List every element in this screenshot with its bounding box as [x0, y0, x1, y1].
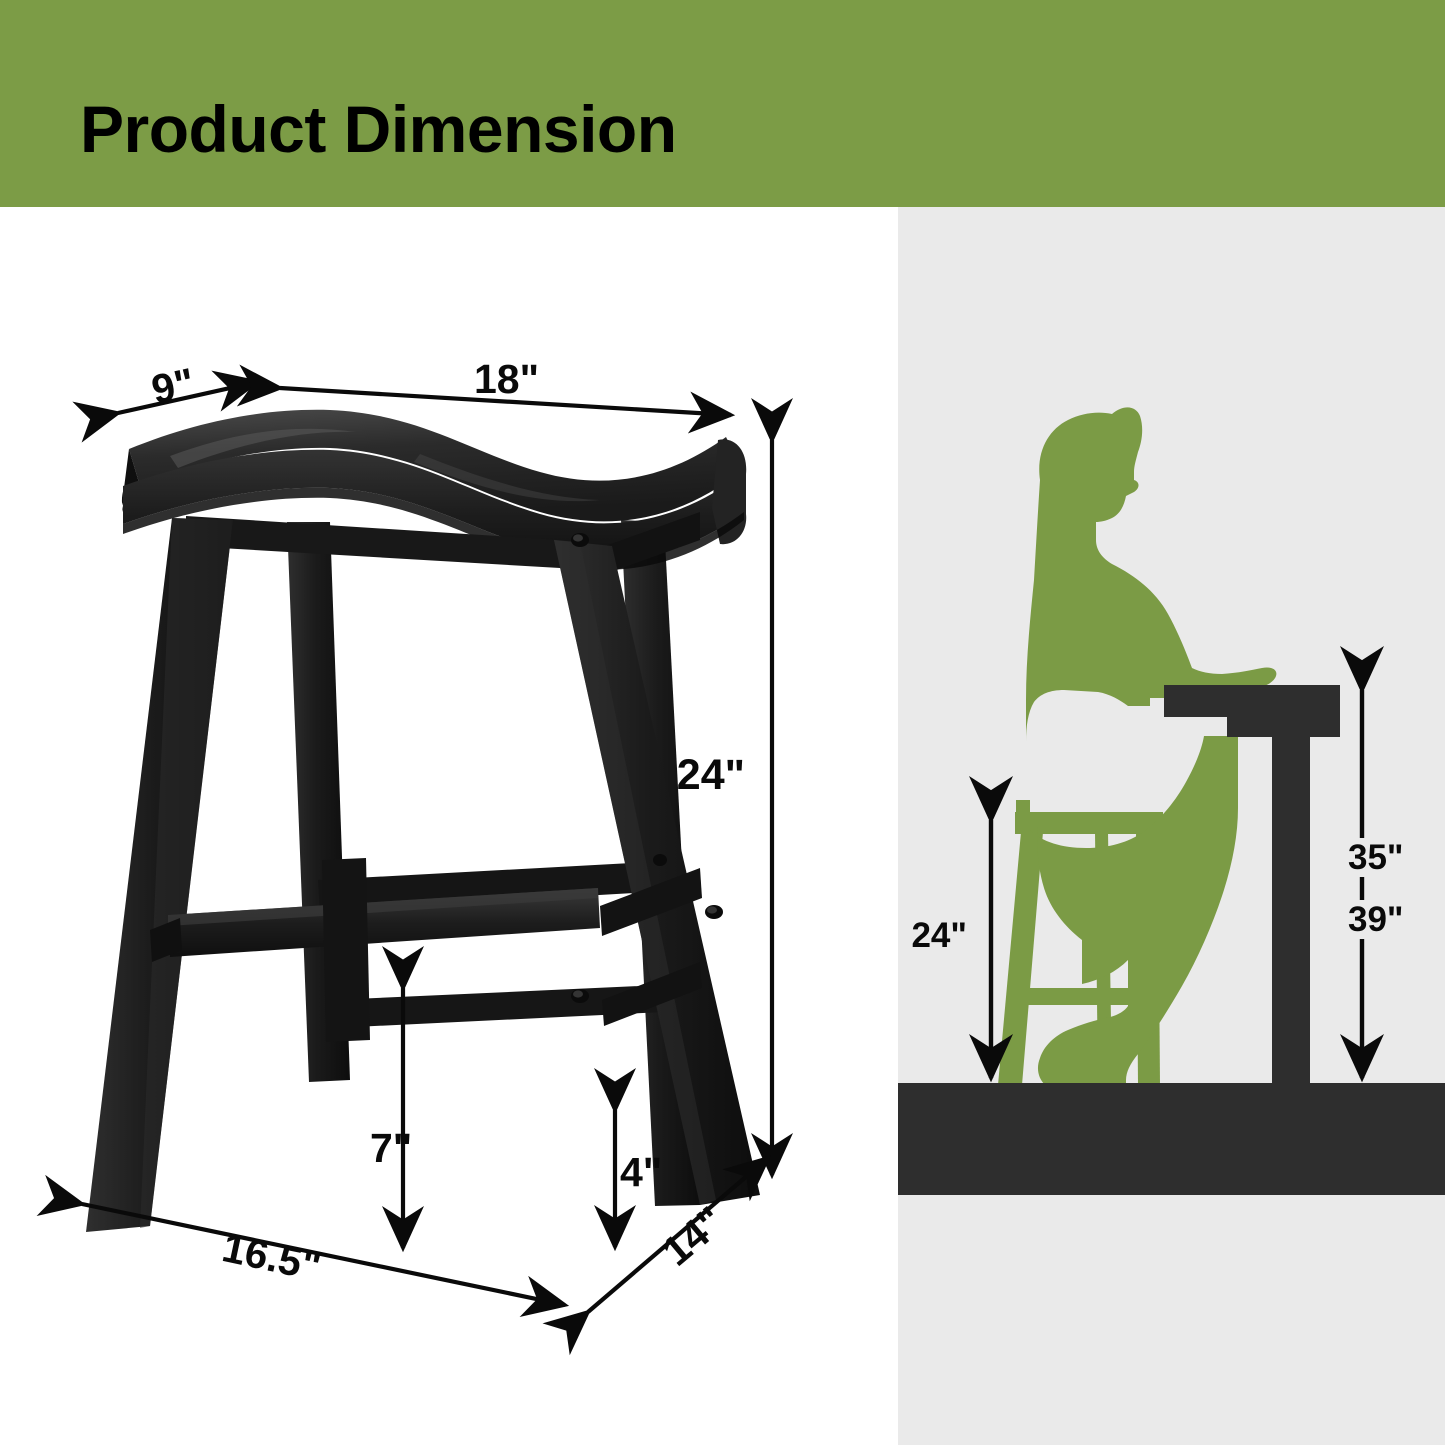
left-panel-stool-diagram	[0, 207, 898, 1445]
dim-label-stool-seat-height: 24"	[911, 918, 967, 953]
right-panel-table-height	[898, 207, 1445, 1445]
dim-label-table-height-min: 35"	[1344, 838, 1408, 877]
caption-label: Recommended Table Height	[924, 1115, 1399, 1155]
caption-bar: Recommended Table Height	[898, 1083, 1445, 1195]
product-dimension-infographic: Product Dimension Recommended Table Heig…	[0, 0, 1445, 1445]
dim-label-overall-height: 24"	[677, 754, 745, 797]
dim-label-lower-rail-height: 4"	[620, 1152, 662, 1193]
dim-label-seat-width: 18"	[474, 359, 539, 400]
dim-label-table-height-max: 39"	[1344, 900, 1408, 939]
dim-label-footrest-height: 7"	[370, 1128, 412, 1169]
page-title: Product Dimension	[80, 96, 677, 162]
dim-label-seat-depth: 9"	[148, 362, 198, 411]
